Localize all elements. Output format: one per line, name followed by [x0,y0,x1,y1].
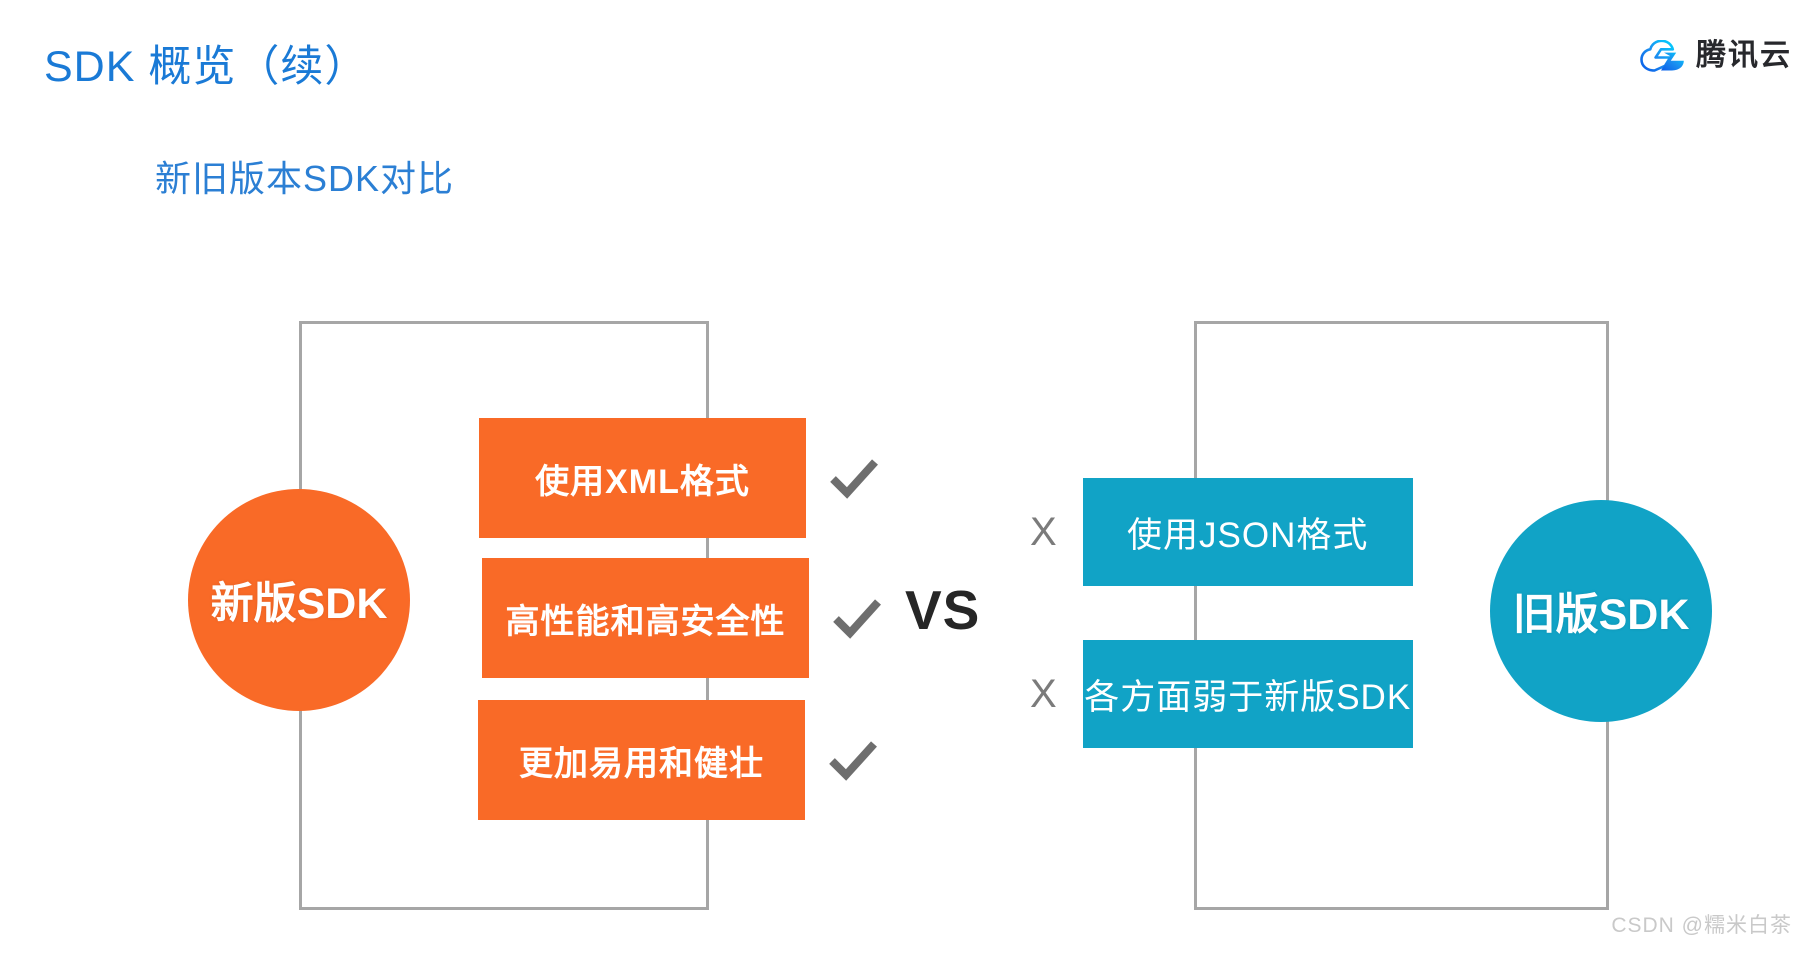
new-sdk-feature-row: 使用XML格式 [479,418,880,538]
old-sdk-circle-label: 旧版SDK [1513,580,1690,642]
check-icon [831,592,883,644]
old-sdk-feature-label: 各方面弱于新版SDK [1084,669,1411,720]
new-sdk-feature-row: 高性能和高安全性 [482,558,883,678]
watermark: CSDN @糯米白茶 [1611,909,1792,939]
page-title: SDK 概览（续） [44,32,368,94]
new-sdk-feature-box: 高性能和高安全性 [482,558,809,678]
section-subtitle: 新旧版本SDK对比 [155,150,454,202]
new-sdk-feature-label: 高性能和高安全性 [506,594,786,643]
old-sdk-feature-box: 各方面弱于新版SDK [1083,640,1413,748]
cloud-icon [1640,40,1686,72]
brand-name: 腾讯云 [1696,41,1792,71]
new-sdk-feature-label: 更加易用和健壮 [519,736,764,785]
old-sdk-circle: 旧版SDK [1490,500,1712,722]
check-icon [827,734,879,786]
new-sdk-feature-row: 更加易用和健壮 [478,700,879,820]
check-icon [828,452,880,504]
new-sdk-feature-box: 更加易用和健壮 [478,700,805,820]
cross-icon: X [1030,674,1057,714]
old-sdk-feature-row: X 各方面弱于新版SDK [1030,640,1413,748]
brand-logo: 腾讯云 [1640,40,1792,72]
new-sdk-feature-label: 使用XML格式 [535,454,750,503]
old-sdk-feature-box: 使用JSON格式 [1083,478,1413,586]
vs-label: VS [905,578,980,642]
new-sdk-feature-box: 使用XML格式 [479,418,806,538]
new-sdk-circle-label: 新版SDK [211,569,388,631]
new-sdk-circle: 新版SDK [188,489,410,711]
slide-canvas: SDK 概览（续） 腾讯云 新旧版本SDK对比 新版SDK 旧版SDK 使用XM… [0,0,1816,953]
old-sdk-feature-row: X 使用JSON格式 [1030,478,1413,586]
old-sdk-feature-label: 使用JSON格式 [1127,507,1368,558]
cross-icon: X [1030,512,1057,552]
